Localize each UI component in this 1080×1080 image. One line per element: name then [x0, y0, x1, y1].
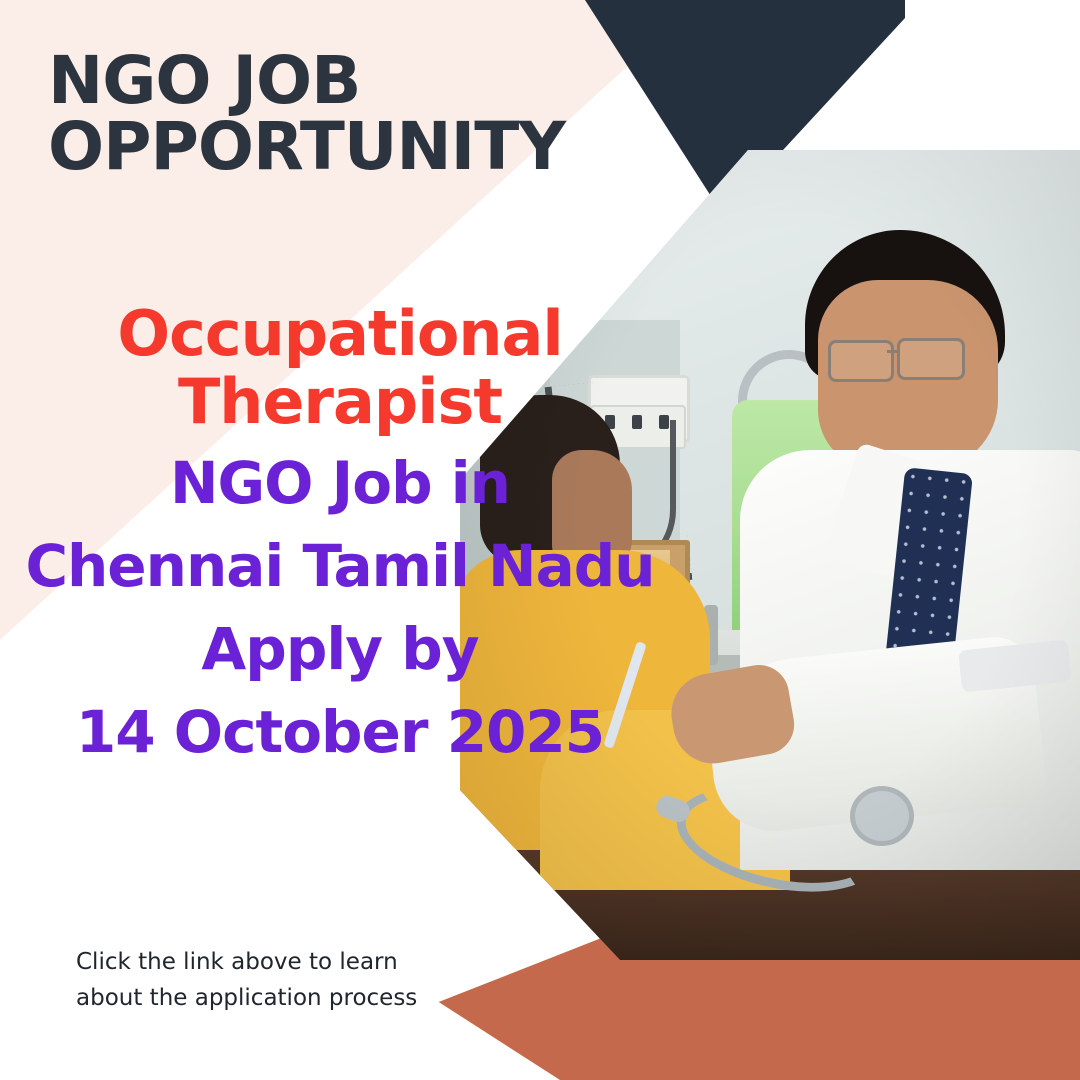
cta-line-1: Click the link above to learn — [76, 945, 506, 981]
job-role-line-2: Therapist — [0, 368, 680, 436]
job-detail-line-4: 14 October 2025 — [0, 697, 680, 768]
call-to-action-text: Click the link above to learn about the … — [76, 945, 506, 1016]
job-detail-line-1: NGO Job in — [0, 448, 680, 519]
poster-headline: NGO JOB OPPORTUNITY — [48, 48, 668, 180]
cta-line-2: about the application process — [76, 981, 506, 1017]
job-detail-line-3: Apply by — [0, 614, 680, 685]
job-detail-line-2: Chennai Tamil Nadu — [0, 531, 680, 602]
job-role-line-1: Occupational — [0, 300, 680, 368]
job-poster: NGO JOB OPPORTUNITY Occupational Therapi… — [0, 0, 1080, 1080]
poster-body-text: Occupational Therapist NGO Job in Chenna… — [0, 300, 680, 767]
